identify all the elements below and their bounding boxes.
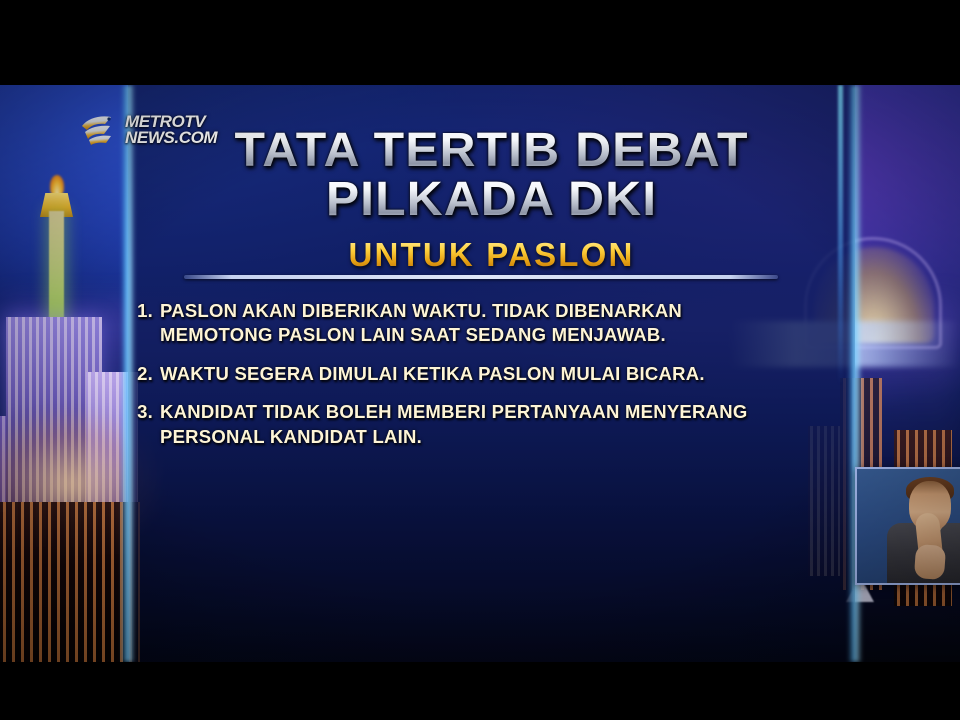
rule-text: WAKTU SEGERA DIMULAI KETIKA PASLON MULAI… (160, 362, 852, 386)
warm-window-lights (0, 502, 140, 662)
letterbox-bar-top (0, 0, 960, 85)
rules-list: 1. PASLON AKAN DIBERIKAN WAKTU. TIDAK DI… (132, 299, 852, 463)
headline-line-2: PILKADA DKI (113, 176, 869, 223)
letterbox-bar-bottom (0, 662, 960, 720)
rule-text: PASLON AKAN DIBERIKAN WAKTU. TIDAK DIBEN… (160, 299, 852, 348)
rule-text-line: MEMOTONG PASLON LAIN SAAT SEDANG MENJAWA… (160, 323, 852, 347)
graphic-content: METROTV NEWS.COM TATA TERTIB DEBAT PILKA… (128, 85, 855, 662)
rule-text-line: WAKTU SEGERA DIMULAI KETIKA PASLON MULAI… (160, 362, 852, 386)
divider-line (184, 275, 778, 279)
video-frame: METROTV NEWS.COM TATA TERTIB DEBAT PILKA… (0, 85, 960, 662)
rule-number: 2. (132, 362, 160, 386)
headline-line-1: TATA TERTIB DEBAT (113, 127, 869, 174)
interpreter-hand-lower (914, 544, 946, 580)
list-item: 1. PASLON AKAN DIBERIKAN WAKTU. TIDAK DI… (132, 299, 852, 348)
rule-text: KANDIDAT TIDAK BOLEH MEMBERI PERTANYAAN … (160, 400, 852, 449)
rule-text-line: PERSONAL KANDIDAT LAIN. (160, 425, 852, 449)
rule-number: 1. (132, 299, 160, 348)
sign-language-interpreter-inset (855, 467, 960, 585)
list-item: 3. KANDIDAT TIDAK BOLEH MEMBERI PERTANYA… (132, 400, 852, 449)
headline-subtitle: UNTUK PASLON (128, 236, 855, 274)
rule-number: 3. (132, 400, 160, 449)
rule-text-line: KANDIDAT TIDAK BOLEH MEMBERI PERTANYAAN … (160, 400, 852, 424)
list-item: 2. WAKTU SEGERA DIMULAI KETIKA PASLON MU… (132, 362, 852, 386)
broadcast-screen: METROTV NEWS.COM TATA TERTIB DEBAT PILKA… (0, 0, 960, 720)
headline-block: TATA TERTIB DEBAT PILKADA DKI (128, 127, 855, 223)
building-left-foreground (0, 502, 140, 662)
rule-text-line: PASLON AKAN DIBERIKAN WAKTU. TIDAK DIBEN… (160, 299, 852, 323)
